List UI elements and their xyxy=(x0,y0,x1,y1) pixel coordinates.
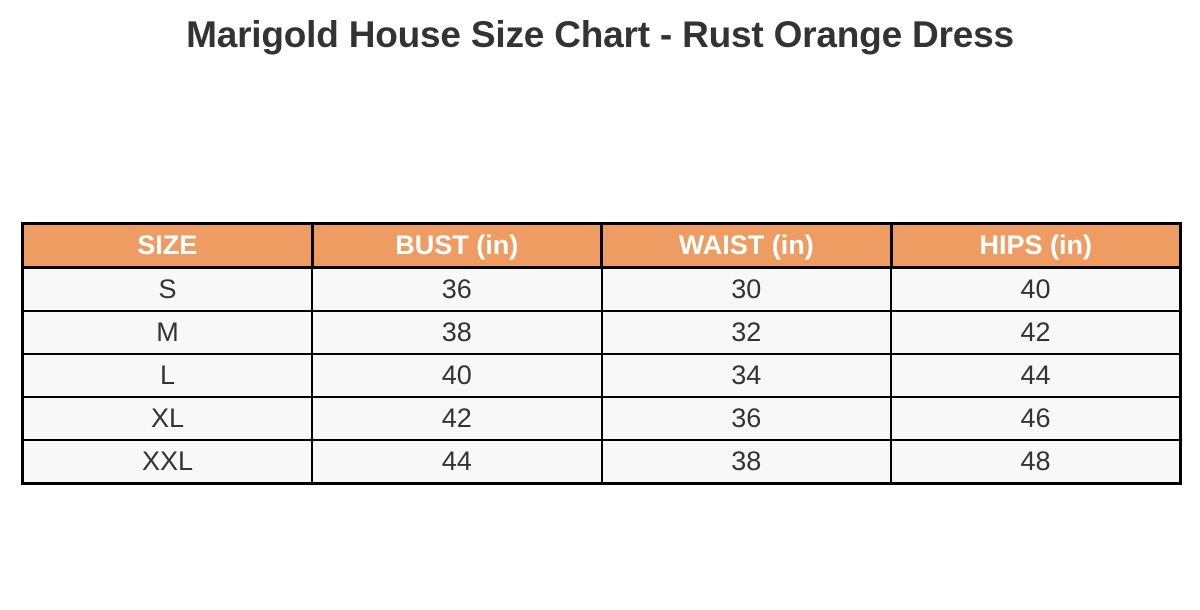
size-chart-table: SIZE BUST (in) WAIST (in) HIPS (in) S 36… xyxy=(21,222,1182,485)
table-row: XL 42 36 46 xyxy=(23,397,1181,440)
cell-waist: 38 xyxy=(602,440,892,484)
table-header: SIZE BUST (in) WAIST (in) HIPS (in) xyxy=(23,224,1181,268)
table-row: S 36 30 40 xyxy=(23,268,1181,312)
cell-size: M xyxy=(23,311,313,354)
cell-bust: 38 xyxy=(312,311,602,354)
column-header-bust: BUST (in) xyxy=(312,224,602,268)
cell-size: S xyxy=(23,268,313,312)
cell-bust: 40 xyxy=(312,354,602,397)
cell-waist: 30 xyxy=(602,268,892,312)
column-header-size: SIZE xyxy=(23,224,313,268)
page-title: Marigold House Size Chart - Rust Orange … xyxy=(0,14,1200,56)
cell-waist: 34 xyxy=(602,354,892,397)
table-header-row: SIZE BUST (in) WAIST (in) HIPS (in) xyxy=(23,224,1181,268)
cell-size: XXL xyxy=(23,440,313,484)
cell-bust: 36 xyxy=(312,268,602,312)
cell-hips: 44 xyxy=(891,354,1181,397)
size-table-container: SIZE BUST (in) WAIST (in) HIPS (in) S 36… xyxy=(21,222,1179,485)
cell-hips: 42 xyxy=(891,311,1181,354)
cell-hips: 40 xyxy=(891,268,1181,312)
cell-bust: 42 xyxy=(312,397,602,440)
cell-bust: 44 xyxy=(312,440,602,484)
cell-hips: 46 xyxy=(891,397,1181,440)
table-body: S 36 30 40 M 38 32 42 L 40 34 44 xyxy=(23,268,1181,484)
cell-size: XL xyxy=(23,397,313,440)
cell-waist: 36 xyxy=(602,397,892,440)
table-row: L 40 34 44 xyxy=(23,354,1181,397)
column-header-hips: HIPS (in) xyxy=(891,224,1181,268)
cell-waist: 32 xyxy=(602,311,892,354)
cell-hips: 48 xyxy=(891,440,1181,484)
cell-size: L xyxy=(23,354,313,397)
column-header-waist: WAIST (in) xyxy=(602,224,892,268)
size-chart-page: Marigold House Size Chart - Rust Orange … xyxy=(0,0,1200,610)
table-row: XXL 44 38 48 xyxy=(23,440,1181,484)
table-row: M 38 32 42 xyxy=(23,311,1181,354)
